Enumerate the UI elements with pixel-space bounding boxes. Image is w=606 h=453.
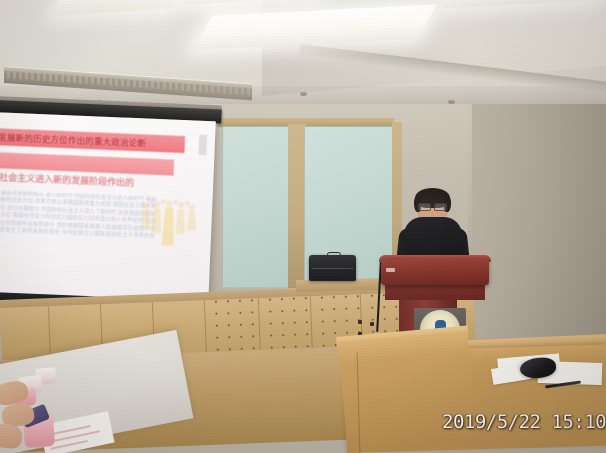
side-wall xyxy=(470,104,606,352)
photograph: 我国发展新的历史方位作出的重大政治论断 特色社会主义进入新的发展阶段作出的 是一… xyxy=(0,0,606,453)
glasses-icon xyxy=(418,203,447,209)
podium xyxy=(381,257,489,285)
ceiling-light-panel xyxy=(52,0,189,16)
slide-body-text: 是一个具有许多新的特点 进入新时代 中国特色社会主义进入新时代 是我国发展新的历… xyxy=(0,190,157,281)
presentation-slide: 我国发展新的历史方位作出的重大政治论断 特色社会主义进入新的发展阶段作出的 是一… xyxy=(0,112,216,303)
projection-screen: 我国发展新的历史方位作出的重大政治论断 特色社会主义进入新的发展阶段作出的 是一… xyxy=(0,112,216,303)
people-graphic-icon xyxy=(136,198,201,263)
slide-side-marker xyxy=(198,135,207,155)
sprinkler-icon xyxy=(300,92,307,96)
whiteboard-panel xyxy=(222,126,292,288)
camera-timestamp: 2019/5/22 15:10 xyxy=(442,413,606,432)
podium-plaque xyxy=(386,268,395,272)
wall-socket-icon xyxy=(358,320,362,324)
briefcase-seam xyxy=(312,268,353,269)
wall-socket-icon xyxy=(370,322,374,326)
